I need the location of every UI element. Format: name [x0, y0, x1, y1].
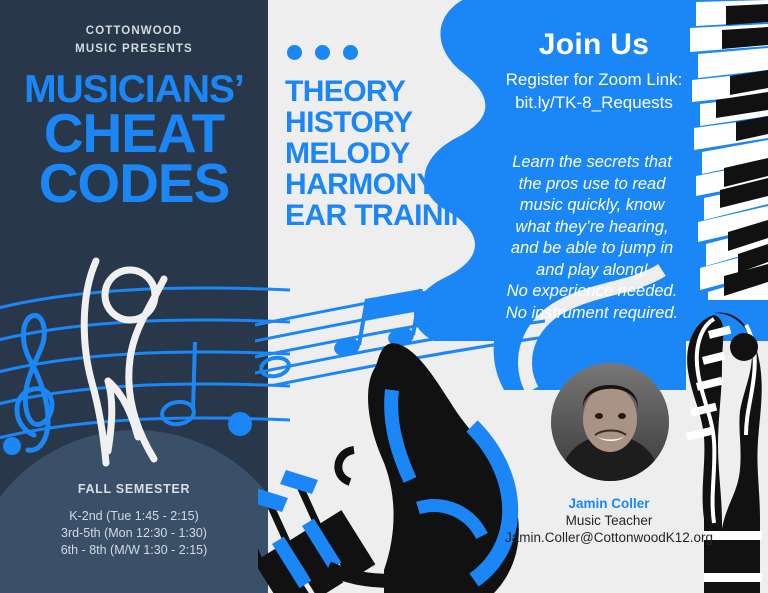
topic-item: EAR TRAINING [285, 200, 494, 231]
brand-header: COTTONWOOD MUSIC PRESENTS [0, 22, 268, 58]
teacher-name: Jamin Coller [480, 496, 738, 511]
description-line: No instrument required. [466, 303, 718, 325]
join-us-block: Join Us Register for Zoom Link: bit.ly/T… [470, 28, 718, 114]
dot [315, 45, 330, 60]
topic-item: MELODY [285, 138, 494, 169]
join-title: Join Us [470, 28, 718, 62]
register-link[interactable]: bit.ly/TK-8_Requests [470, 91, 718, 114]
topic-item: HARMONY [285, 169, 494, 200]
quarter-note-icon [228, 412, 252, 436]
tuba-icon [258, 330, 548, 593]
schedule-line: K-2nd (Tue 1:45 - 2:15) [0, 508, 268, 525]
description-line: and play along! [466, 260, 718, 282]
schedule-line: 6th - 8th (M/W 1:30 - 2:15) [0, 542, 268, 559]
description-line: and be able to jump in [466, 238, 718, 260]
dot [287, 45, 302, 60]
headline-line-2: CHEAT [0, 108, 268, 159]
brand-line-2: MUSIC PRESENTS [0, 40, 268, 58]
description-line: Learn the secrets that [466, 152, 718, 174]
guitar-headstock-icon [660, 305, 768, 593]
page-title: MUSICIANS’ CHEAT CODES [0, 72, 268, 209]
headline-line-3: CODES [0, 158, 268, 209]
topic-item: THEORY [285, 76, 494, 107]
schedule-block: FALL SEMESTER K-2nd (Tue 1:45 - 2:15) 3r… [0, 482, 268, 559]
contact-block: Jamin Coller Music Teacher Jamin.Coller@… [480, 496, 738, 545]
register-line-1: Register for Zoom Link: [470, 68, 718, 91]
poster-flyer: COTTONWOOD MUSIC PRESENTS MUSICIANS’ CHE… [0, 0, 768, 593]
schedule-title: FALL SEMESTER [0, 482, 268, 496]
description-block: Learn the secrets that the pros use to r… [466, 152, 718, 324]
description-line: what they’re hearing, [466, 217, 718, 239]
topics-list: THEORY HISTORY MELODY HARMONY EAR TRAINI… [285, 76, 494, 231]
teacher-portrait-photo [551, 363, 669, 481]
dot [343, 45, 358, 60]
brand-line-1: COTTONWOOD [0, 22, 268, 40]
teacher-email[interactable]: Jamin.Coller@CottonwoodK12.org [480, 530, 738, 545]
schedule-line: 3rd-5th (Mon 12:30 - 1:30) [0, 525, 268, 542]
dancing-figure-icon [68, 255, 198, 470]
description-line: the pros use to read [466, 174, 718, 196]
description-line: music quickly, know [466, 195, 718, 217]
teacher-role: Music Teacher [480, 511, 738, 530]
description-line: No experience needed. [466, 281, 718, 303]
topic-item: HISTORY [285, 107, 494, 138]
three-dots-icon [287, 45, 358, 60]
